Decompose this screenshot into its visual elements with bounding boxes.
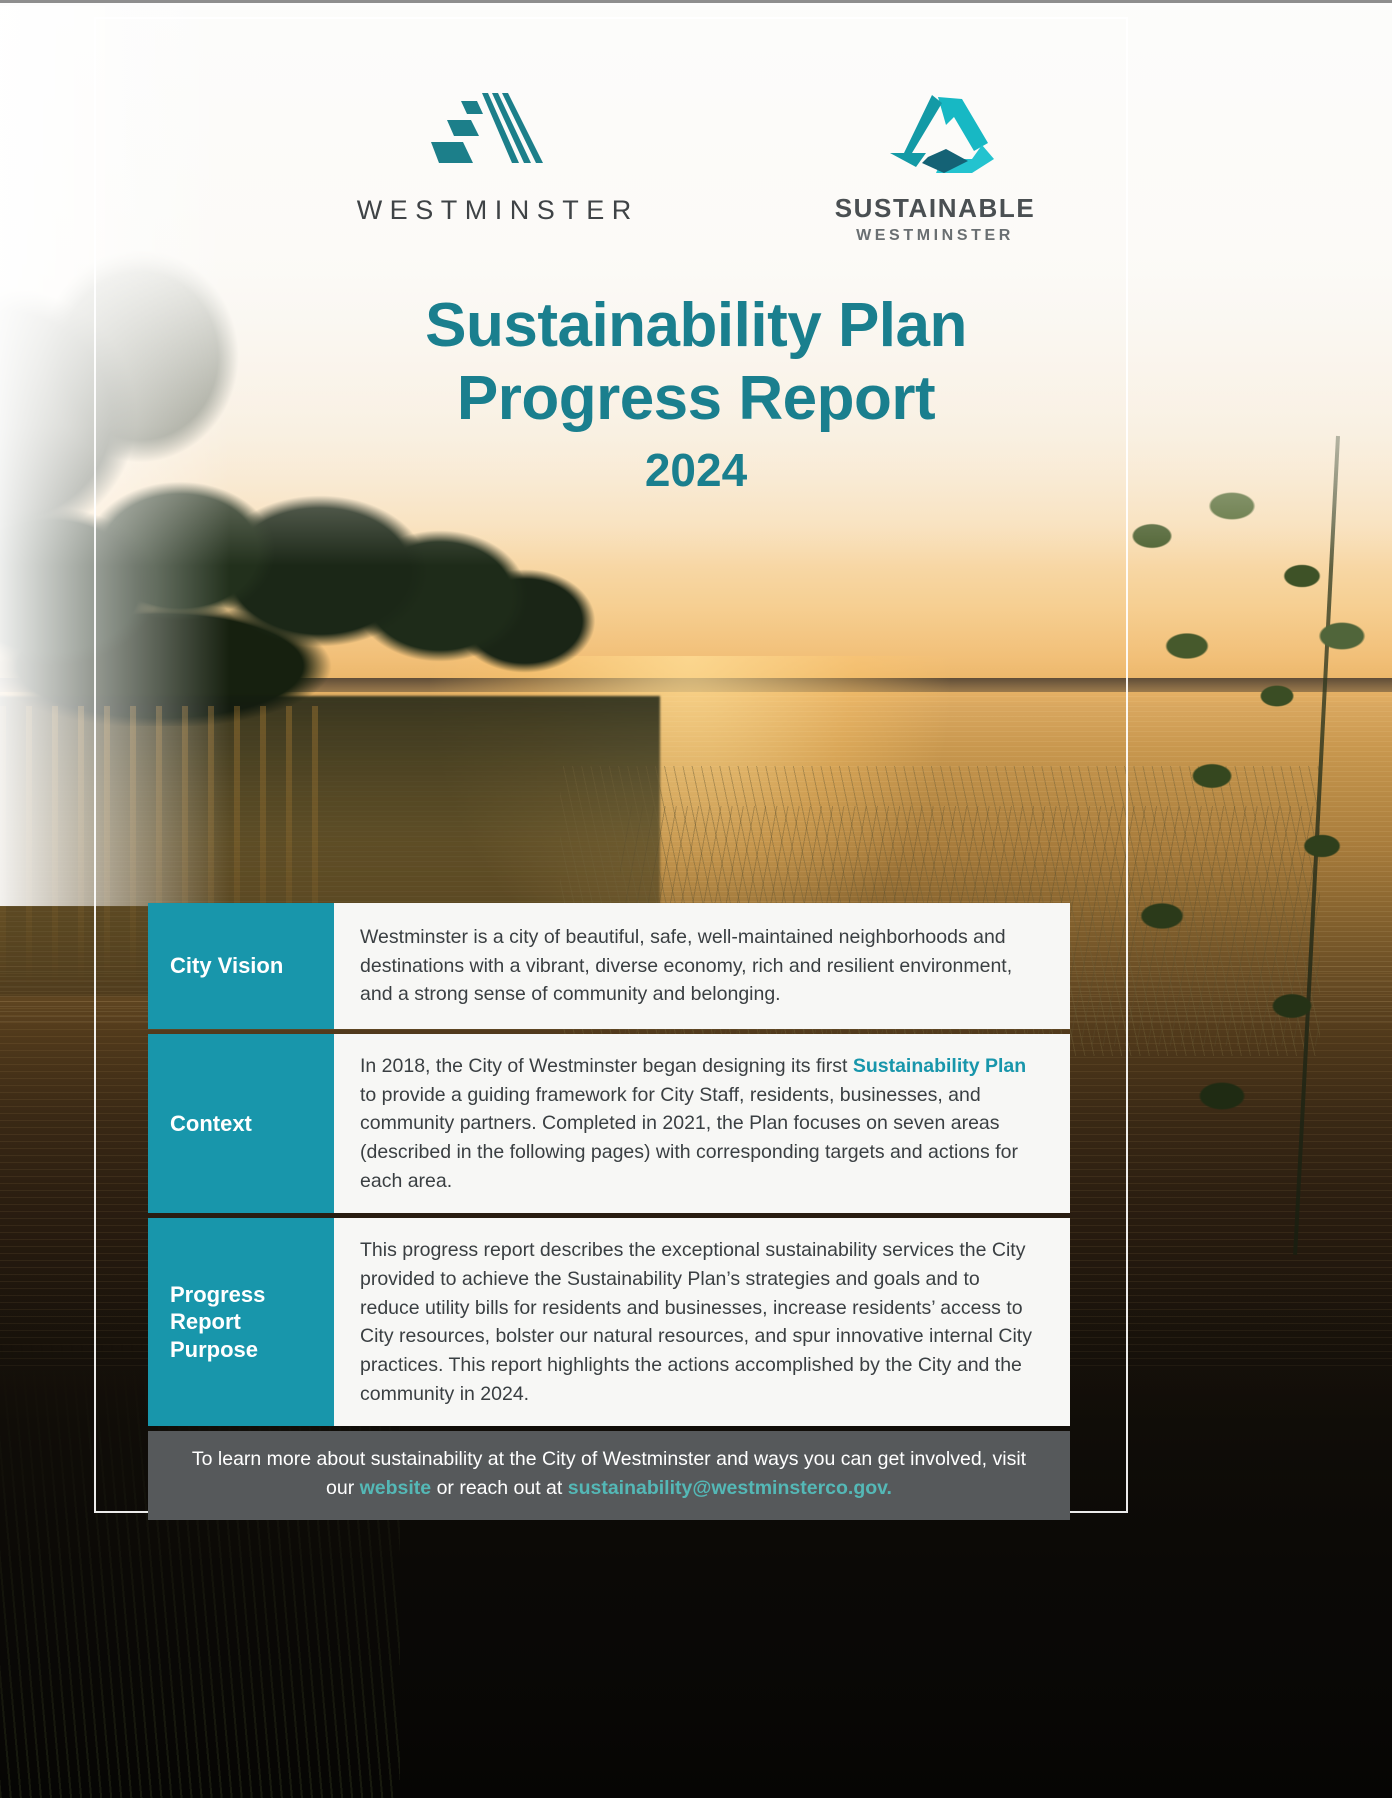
sustainable-wordmark-line1: SUSTAINABLE	[835, 193, 1036, 224]
logo-header: WESTMINSTER SUSTAINABLE WESTMINSTER	[0, 91, 1392, 245]
recycling-triangle-arrows-mark-icon	[876, 91, 994, 177]
row-body-context: In 2018, the City of Westminster began d…	[334, 1034, 1070, 1213]
table-row: City Vision Westminster is a city of bea…	[148, 903, 1070, 1029]
table-row: Progress Report Purpose This progress re…	[148, 1218, 1070, 1426]
westminster-chevron-mark-icon	[423, 91, 573, 173]
row-label-progress-report-purpose: Progress Report Purpose	[148, 1218, 334, 1426]
title-year: 2024	[0, 443, 1392, 497]
table-row: Context In 2018, the City of Westminster…	[148, 1034, 1070, 1213]
row-label-context: Context	[148, 1034, 334, 1213]
page-title: Sustainability Plan Progress Report 2024	[0, 289, 1392, 497]
contact-footer-bar: To learn more about sustainability at th…	[148, 1431, 1070, 1520]
title-line-1: Sustainability Plan	[0, 289, 1392, 362]
overview-table: City Vision Westminster is a city of bea…	[148, 903, 1070, 1520]
row-body-city-vision: Westminster is a city of beautiful, safe…	[334, 903, 1070, 1029]
westminster-logo: WESTMINSTER	[357, 91, 639, 226]
title-line-2: Progress Report	[0, 362, 1392, 435]
website-link[interactable]: website	[360, 1477, 432, 1499]
westminster-wordmark: WESTMINSTER	[357, 195, 639, 226]
sustainable-westminster-logo: SUSTAINABLE WESTMINSTER	[835, 91, 1036, 245]
email-link[interactable]: sustainability@westminsterco.gov.	[568, 1477, 892, 1499]
row-label-city-vision: City Vision	[148, 903, 334, 1029]
cover-photo-lake-sunset	[0, 6, 1392, 1798]
row-body-progress-report-purpose: This progress report describes the excep…	[334, 1218, 1070, 1426]
footer-text-between: or reach out at	[431, 1477, 568, 1499]
foliage-right	[1092, 446, 1392, 1246]
sustainable-wordmark-line2: WESTMINSTER	[856, 227, 1014, 245]
report-cover-page: WESTMINSTER SUSTAINABLE WESTMINSTER S	[0, 0, 1392, 1798]
